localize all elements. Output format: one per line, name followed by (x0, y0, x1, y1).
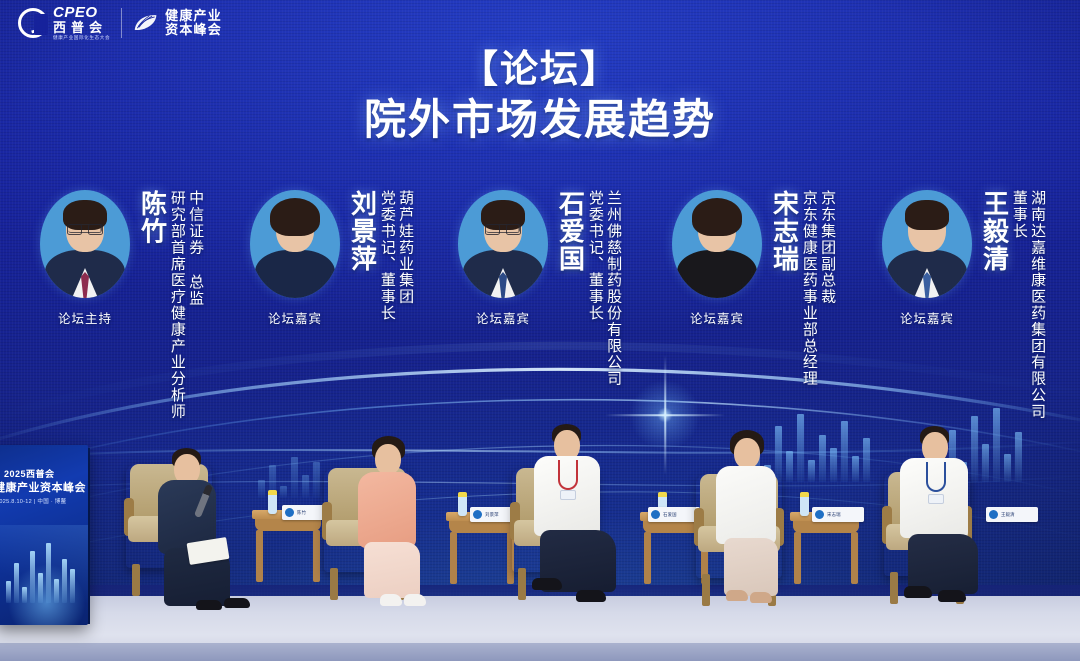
person-figure-3 (524, 424, 642, 622)
panelist-portrait-2 (250, 190, 340, 298)
panelist-role-1: 论坛主持 (40, 308, 130, 327)
nameplate-text-1: 陈竹 (297, 510, 306, 516)
badge-5 (928, 494, 944, 504)
panelist-title-line1-3: 党委书记、董事长 (588, 190, 603, 321)
podium-banner: 2025西普会 健康产业资本峰会 2025.8.10-12 | 中国 · 博鳌 (0, 445, 88, 625)
panelist-role-5: 论坛嘉宾 (882, 308, 972, 327)
badge-3 (560, 490, 576, 500)
cpeo-logo-en: CPEO (53, 5, 110, 20)
panelist-role-3: 论坛嘉宾 (458, 308, 548, 327)
health-capital-logo: 健康产业 资本峰会 (133, 9, 222, 37)
panelist-role-2: 论坛嘉宾 (250, 308, 340, 327)
forum-title-line1: 【论坛】 (0, 48, 1080, 93)
header-logo-bar: CPEO 西普会 健康产业国际化生态大会 健康产业 资本峰会 (18, 2, 222, 44)
person-figure-1 (144, 448, 254, 624)
health-capital-line2: 资本峰会 (165, 23, 222, 37)
panelist-name-5: 王毅清 (981, 190, 1008, 273)
panelist-name-3: 石爱国 (557, 190, 584, 273)
panelist-name-1: 陈竹 (139, 190, 166, 245)
podium-line2: 健康产业资本峰会 (0, 479, 86, 495)
side-table-4 (790, 512, 862, 584)
podium-line3: 2025.8.10-12 | 中国 · 博鳌 (0, 497, 66, 505)
water-bottle-4 (800, 492, 809, 516)
nameplate-logo-icon (989, 510, 998, 519)
forum-title-block: 【论坛】 院外市场发展趋势 (0, 48, 1080, 145)
nameplate-logo-icon (815, 510, 824, 519)
health-capital-line1: 健康产业 (165, 9, 222, 23)
nameplate-text-4: 宋志瑞 (827, 512, 841, 518)
cpeo-logo-sub: 健康产业国际化生态大会 (53, 36, 110, 41)
nameplate-5: 王毅清 (986, 507, 1038, 522)
cpeo-logo-cn: 西普会 (53, 21, 110, 34)
nameplate-text-2: 刘景萍 (485, 512, 499, 518)
panelist-role-4: 论坛嘉宾 (672, 308, 762, 327)
panelist-title-line1-5: 董事长 (1012, 190, 1027, 239)
panelist-portrait-4 (672, 190, 762, 298)
panelist-card-5: 论坛嘉宾 王毅清 董事长 湖南达嘉维康医药集团有限公司 (882, 190, 1045, 420)
stage-floor-edge (0, 643, 1080, 661)
logo-divider (121, 8, 122, 38)
panelist-title-line2-1: 中信证券 总监 (188, 190, 203, 307)
panelist-name-4: 宋志瑞 (771, 190, 798, 273)
panelist-card-1: 论坛主持 陈竹 研究部首席医疗健康产业分析师 中信证券 总监 (40, 190, 203, 420)
panelist-card-4: 论坛嘉宾 宋志瑞 京东健康医药事业部总经理 京东集团副总裁 (672, 190, 835, 387)
panelist-portrait-3 (458, 190, 548, 298)
panelist-title-line1-2: 党委书记、董事长 (380, 190, 395, 321)
nameplate-logo-icon (473, 510, 482, 519)
panelist-title-line2-3: 兰州佛慈制药股份有限公司 (606, 190, 621, 387)
panelist-portrait-1 (40, 190, 130, 298)
leaf-icon (133, 13, 159, 33)
lanyard-5 (926, 462, 946, 492)
nameplate-logo-icon (651, 510, 660, 519)
nameplate-logo-icon (285, 508, 294, 517)
nameplate-4: 宋志瑞 (812, 507, 864, 522)
cpeo-logo: CPEO 西普会 健康产业国际化生态大会 (18, 5, 110, 41)
nameplate-text-5: 王毅清 (1001, 512, 1015, 518)
person-figure-2 (342, 436, 452, 622)
podium-bar-graphic (6, 543, 75, 603)
seated-panelist-3 (500, 448, 655, 628)
seated-panelist-1 (118, 450, 268, 625)
nameplate-text-3: 石爱国 (663, 512, 677, 518)
panelist-title-line1-1: 研究部首席医疗健康产业分析师 (170, 190, 185, 420)
panelist-title-line1-4: 京东健康医药事业部总经理 (802, 190, 817, 387)
lanyard-3 (558, 460, 578, 490)
forum-title-line2: 院外市场发展趋势 (0, 95, 1080, 145)
panelist-title-line2-2: 葫芦娃药业集团 (398, 190, 413, 305)
panelist-portrait-5 (882, 190, 972, 298)
cpeo-circle-logo-icon (18, 8, 48, 38)
water-bottle-1 (268, 490, 277, 514)
panelist-card-3: 论坛嘉宾 石爱国 党委书记、董事长 兰州佛慈制药股份有限公司 (458, 190, 621, 387)
panelist-row: 论坛主持 陈竹 研究部首席医疗健康产业分析师 中信证券 总监 论坛嘉宾 刘景萍 … (0, 190, 1080, 420)
seated-panelist-5 (862, 450, 1022, 630)
panelist-card-2: 论坛嘉宾 刘景萍 党委书记、董事长 葫芦娃药业集团 (250, 190, 413, 327)
person-figure-5 (890, 426, 1010, 624)
panelist-title-line2-4: 京东集团副总裁 (820, 190, 835, 305)
water-bottle-2 (458, 492, 467, 516)
panelist-name-2: 刘景萍 (349, 190, 376, 273)
conference-stage-photo: CPEO 西普会 健康产业国际化生态大会 健康产业 资本峰会 【论坛】 院外市场… (0, 0, 1080, 661)
side-table-1 (252, 510, 324, 582)
panelist-title-line2-5: 湖南达嘉维康医药集团有限公司 (1030, 190, 1045, 420)
